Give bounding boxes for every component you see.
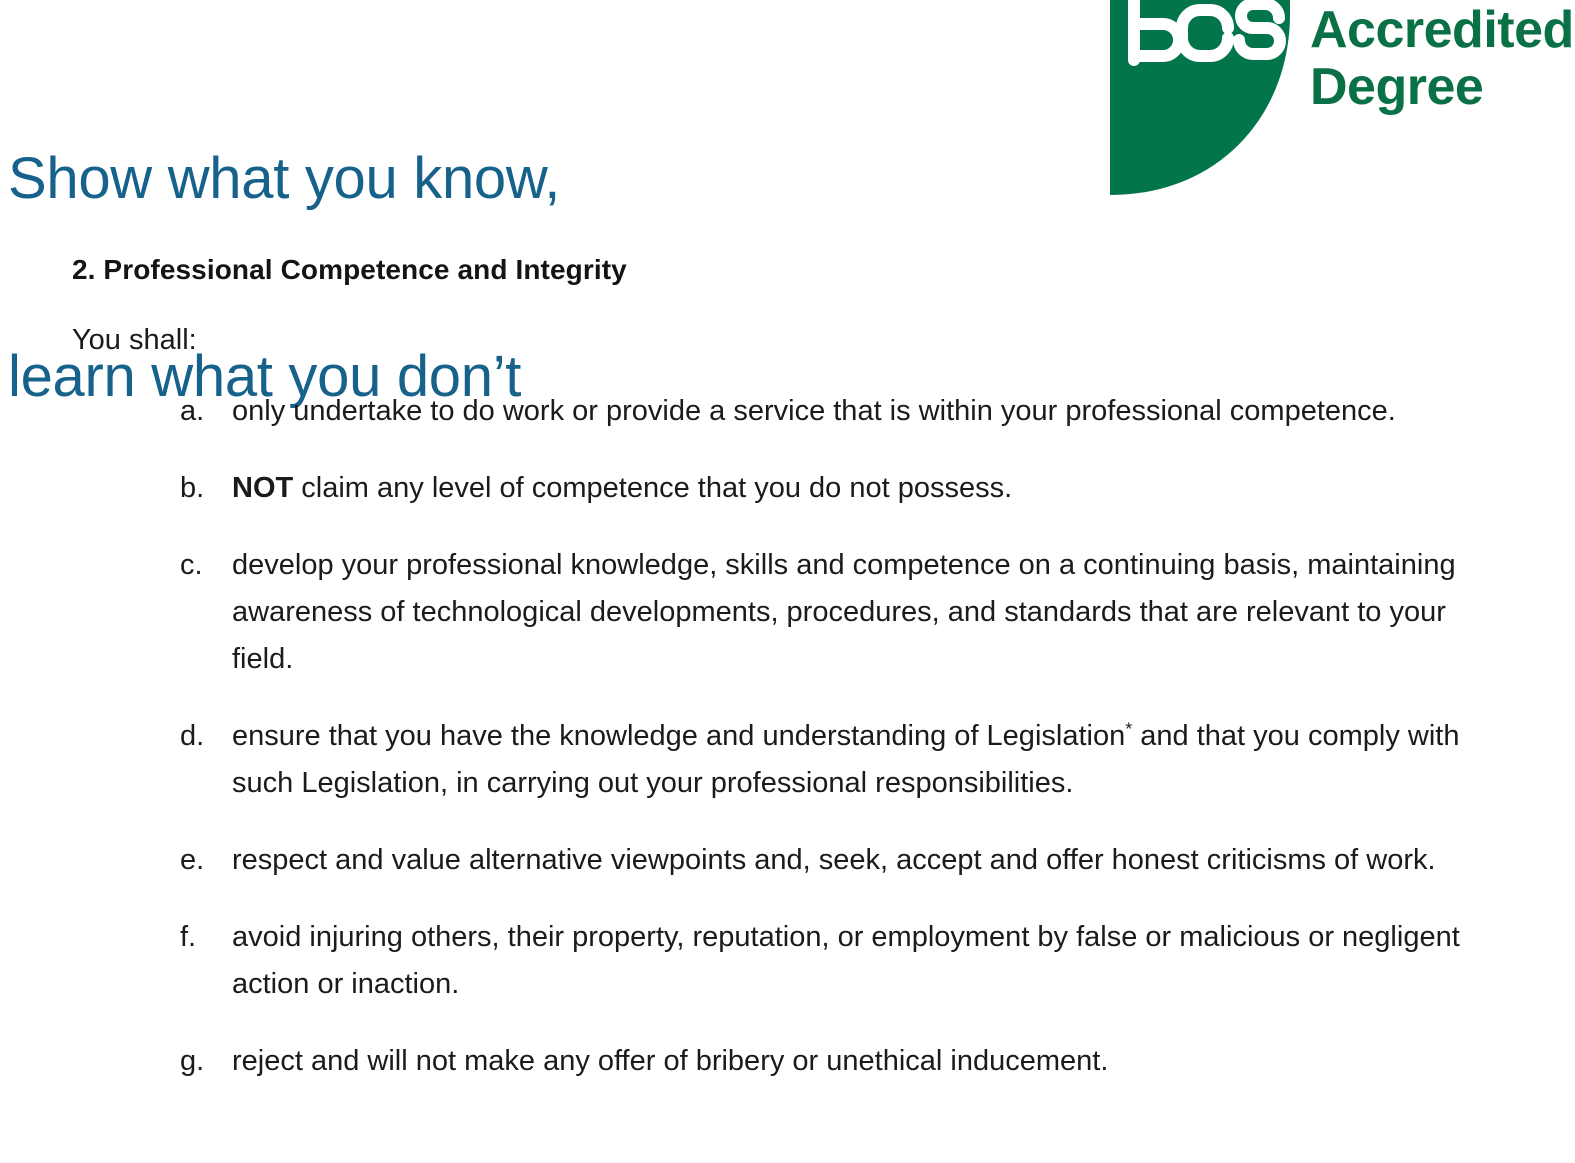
page-title-line-1: Show what you know, [8, 146, 1048, 212]
list-item-text-rest: claim any level of competence that you d… [293, 472, 1012, 504]
logo-text-line-1: Accredited [1310, 2, 1574, 59]
list-item-text: develop your professional knowledge, ski… [232, 542, 1482, 683]
list-item-text: reject and will not make any offer of br… [232, 1038, 1482, 1085]
list-item: d. ensure that you have the knowledge an… [0, 713, 1575, 807]
list-item-emphasis: NOT [232, 472, 293, 504]
list-item-marker: g. [180, 1038, 226, 1085]
list-item: e. respect and value alternative viewpoi… [0, 837, 1575, 884]
list-item-text: ensure that you have the knowledge and u… [232, 713, 1482, 807]
slide-canvas: Show what you know, learn what you don’t [0, 0, 1575, 1163]
list-item: f. avoid injuring others, their property… [0, 914, 1575, 1008]
list-item-text: only undertake to do work or provide a s… [232, 388, 1482, 435]
logo-text: Accredited Degree [1310, 2, 1574, 116]
bcs-accredited-degree-logo: Accredited Degree [1110, 0, 1575, 204]
list-item-marker: f. [180, 914, 226, 961]
list-item-text: avoid injuring others, their property, r… [232, 914, 1482, 1008]
list-item: c. develop your professional knowledge, … [0, 542, 1575, 683]
document-clause-list: a. only undertake to do work or provide … [0, 388, 1575, 1115]
list-item: g. reject and will not make any offer of… [0, 1038, 1575, 1085]
list-item-text: NOT claim any level of competence that y… [232, 465, 1482, 512]
list-item-marker: c. [180, 542, 226, 589]
code-of-conduct-document: 2. Professional Competence and Integrity… [0, 236, 1575, 1136]
list-item-marker: b. [180, 465, 226, 512]
logo-text-line-2: Degree [1310, 59, 1574, 116]
list-item-marker: a. [180, 388, 226, 435]
document-lead-in: You shall: [72, 324, 197, 357]
list-item-text-before: ensure that you have the knowledge and u… [232, 720, 1125, 752]
list-item-marker: e. [180, 837, 226, 884]
list-item-marker: d. [180, 713, 226, 760]
bcs-wordmark-icon [1127, 0, 1287, 68]
list-item: a. only undertake to do work or provide … [0, 388, 1575, 435]
document-section-heading: 2. Professional Competence and Integrity [72, 254, 627, 286]
list-item: b. NOT claim any level of competence tha… [0, 465, 1575, 512]
list-item-text: respect and value alternative viewpoints… [232, 837, 1482, 884]
